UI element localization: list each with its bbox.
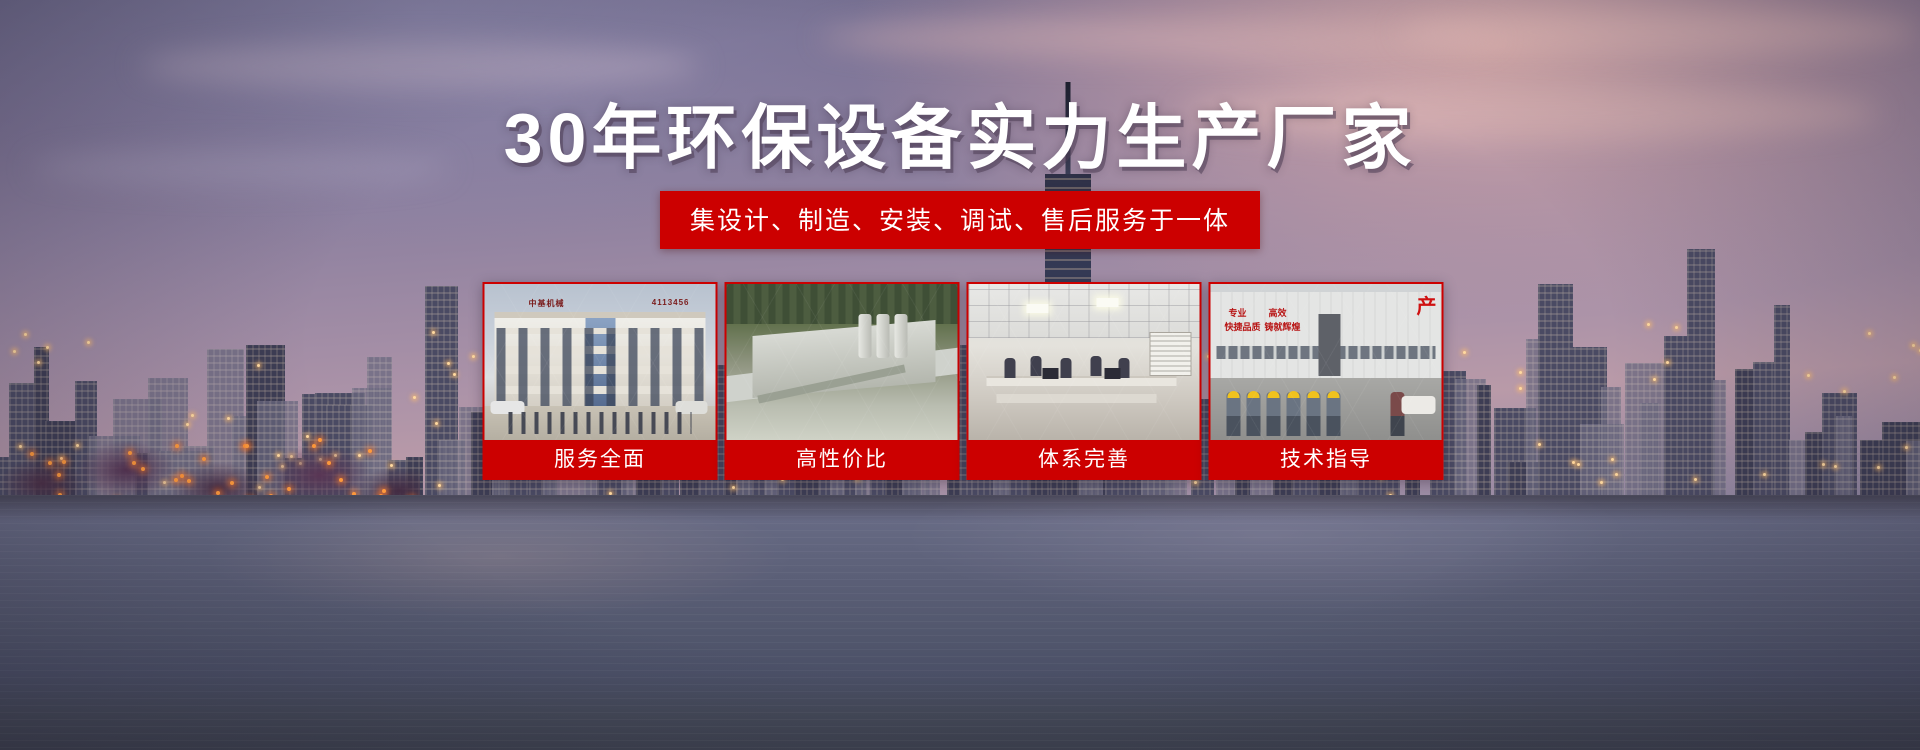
card-thumbnail-factory-aerial: [727, 284, 958, 440]
watermark-pattern: [485, 284, 716, 440]
card-caption: 服务全面: [485, 440, 716, 480]
feature-card-list: 中基机械 4113456 服务全面: [483, 282, 1438, 480]
banner-content: 30年环保设备实力生产厂家 集设计、制造、安装、调试、售后服务于一体 中基机械 …: [0, 0, 1920, 750]
watermark-pattern: [727, 284, 958, 440]
watermark-pattern: [969, 284, 1200, 440]
subtitle-badge: 集设计、制造、安装、调试、售后服务于一体: [660, 191, 1260, 249]
card-thumbnail-workshop: 专业 高效 快捷品质 铸就辉煌 产: [1211, 284, 1442, 440]
feature-card[interactable]: 体系完善: [967, 282, 1202, 480]
card-thumbnail-office-building: 中基机械 4113456: [485, 284, 716, 440]
watermark-pattern: [1211, 284, 1442, 440]
card-caption: 高性价比: [727, 440, 958, 480]
feature-card[interactable]: 专业 高效 快捷品质 铸就辉煌 产: [1209, 282, 1444, 480]
hero-banner: 30年环保设备实力生产厂家 集设计、制造、安装、调试、售后服务于一体 中基机械 …: [0, 0, 1920, 750]
card-caption: 技术指导: [1211, 440, 1442, 480]
feature-card[interactable]: 高性价比: [725, 282, 960, 480]
card-thumbnail-office-interior: [969, 284, 1200, 440]
page-title: 30年环保设备实力生产厂家: [0, 103, 1920, 173]
feature-card[interactable]: 中基机械 4113456 服务全面: [483, 282, 718, 480]
card-caption: 体系完善: [969, 440, 1200, 480]
